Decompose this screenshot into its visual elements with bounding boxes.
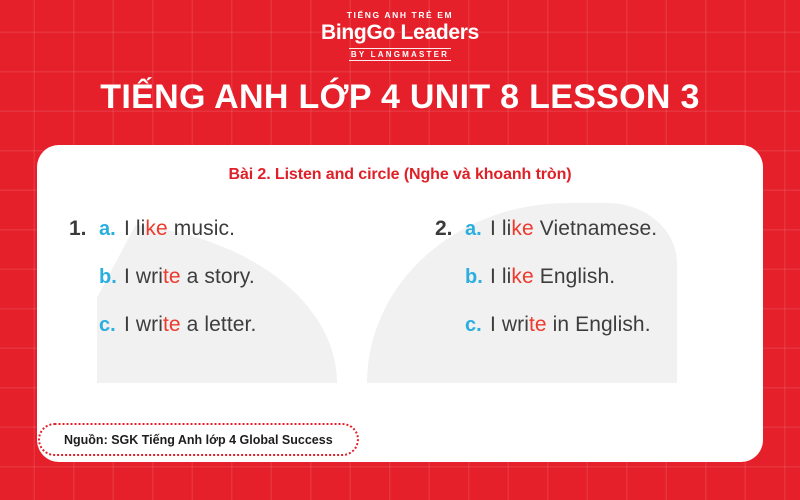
option-text-post: English. [534,265,615,288]
option-text: I write a letter. [124,313,256,337]
option-text-highlight: te [529,313,547,336]
brand-name: BingGo Leaders [0,21,800,44]
option-text: I write in English. [490,313,651,337]
brand-rule-bottom [349,60,451,61]
option-text-pre: I wri [124,313,163,336]
option-row[interactable]: c. I write in English. [435,313,763,361]
option-text-post: music. [168,217,235,240]
option-row[interactable]: b. I like English. [435,265,763,313]
question-number: 2. [435,217,465,241]
option-text-pre: I li [490,217,511,240]
exercise-columns: 1. a. I like music. b. I write a story. … [37,217,763,361]
option-text-highlight: ke [145,217,167,240]
option-text-pre: I wri [490,313,529,336]
option-letter: c. [465,314,490,337]
brand-tagline: TIẾNG ANH TRẺ EM [0,10,800,20]
option-text-post: a story. [181,265,255,288]
option-text-highlight: te [163,313,181,336]
option-list: a. I like Vietnamese. [465,217,763,265]
option-row[interactable]: a. I like music. [99,217,427,265]
poster-canvas: TIẾNG ANH TRẺ EM BingGo Leaders BY LANGM… [0,0,800,500]
option-text-highlight: te [163,265,181,288]
page-title: TIẾNG ANH LỚP 4 UNIT 8 LESSON 3 [0,76,800,118]
option-text-post: Vietnamese. [534,217,657,240]
option-letter: b. [99,266,124,289]
option-row[interactable]: b. I write a story. [69,265,427,313]
option-text-pre: I li [490,265,511,288]
option-text-highlight: ke [511,265,533,288]
question-column-1: 1. a. I like music. b. I write a story. … [37,217,427,361]
option-row[interactable]: c. I write a letter. [69,313,427,361]
option-text-highlight: ke [511,217,533,240]
source-badge: Nguồn: SGK Tiếng Anh lớp 4 Global Succes… [38,423,359,456]
question-block: 2. a. I like Vietnamese. [435,217,763,265]
option-text-pre: I wri [124,265,163,288]
option-letter: a. [465,218,490,241]
option-text: I like English. [490,265,615,289]
option-text-pre: I li [124,217,145,240]
question-block: 1. a. I like music. [69,217,427,265]
option-text: I like music. [124,217,235,241]
exercise-heading: Bài 2. Listen and circle (Nghe và khoanh… [37,166,763,184]
option-letter: a. [99,218,124,241]
source-label: Nguồn: SGK Tiếng Anh lớp 4 Global Succes… [64,433,333,447]
brand-sub-wrapper: BY LANGMASTER [349,48,451,61]
option-text-post: a letter. [181,313,257,336]
option-letter: c. [99,314,124,337]
option-list: a. I like music. [99,217,427,265]
content-card: Bài 2. Listen and circle (Nghe và khoanh… [37,145,763,462]
option-text: I like Vietnamese. [490,217,657,241]
option-text: I write a story. [124,265,255,289]
option-row[interactable]: a. I like Vietnamese. [465,217,763,265]
brand-subtitle: BY LANGMASTER [349,49,451,60]
question-column-2: 2. a. I like Vietnamese. b. I like Engli… [427,217,763,361]
option-letter: b. [465,266,490,289]
question-number: 1. [69,217,99,241]
option-text-post: in English. [547,313,651,336]
brand-logo: TIẾNG ANH TRẺ EM BingGo Leaders BY LANGM… [0,10,800,62]
